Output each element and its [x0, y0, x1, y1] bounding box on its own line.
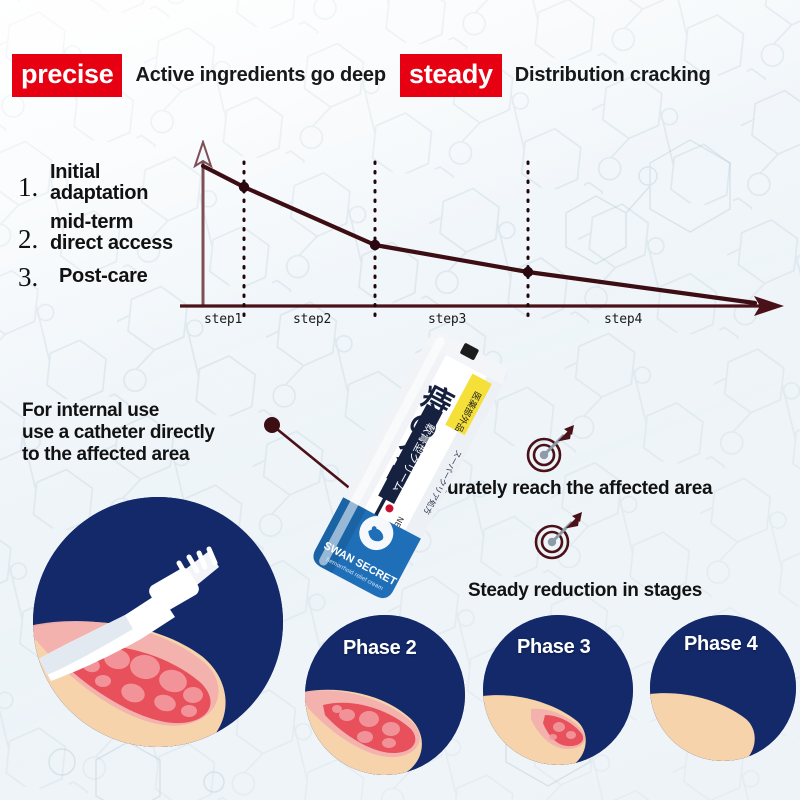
chart-droplines	[244, 162, 528, 316]
step-label-line2: adaptation	[50, 182, 148, 204]
step-number: 1.	[18, 173, 50, 201]
x-tick-step2: step2	[293, 312, 331, 327]
chart-data-points	[239, 182, 533, 277]
header-precise: precise Active ingredients go deep	[12, 54, 386, 97]
header-precise-text: Active ingredients go deep	[135, 64, 385, 87]
step-label-line1: mid-term	[50, 211, 133, 233]
callout-line-3: to the affected area	[22, 444, 215, 466]
list-item: 1. Initial adaptation	[18, 162, 208, 205]
phase-1-illustration	[33, 497, 283, 747]
badge-precise: precise	[12, 54, 122, 97]
step-label: mid-term direct access	[50, 212, 173, 255]
target-arrow-icon	[528, 512, 584, 564]
phase-4-label: Phase 4	[684, 633, 758, 656]
list-item: 3. Post-care	[18, 262, 208, 291]
steps-list: 1. Initial adaptation 2. mid-term direct…	[18, 160, 208, 298]
list-item: 2. mid-term direct access	[18, 212, 208, 255]
x-tick-step3: step3	[428, 312, 466, 327]
x-tick-step4: step4	[604, 312, 642, 327]
step-label: Post-care	[59, 266, 147, 287]
leader-dot	[264, 417, 280, 433]
decline-line-chart	[180, 140, 790, 340]
callout-line-2: use a catheter directly	[22, 422, 215, 444]
step-label: Initial adaptation	[50, 162, 148, 205]
phase-2-label: Phase 2	[343, 637, 417, 660]
chart-series-line	[203, 166, 755, 303]
product-tube: 医薬部外品 痔のクリーム 軟膏型クリーム スーパークリア処方 NET 20g S…	[296, 328, 516, 618]
catheter-callout: For internal use use a catheter directly…	[22, 400, 215, 466]
phase-3-label: Phase 3	[517, 636, 591, 659]
header-steady-text: Distribution cracking	[515, 64, 711, 87]
step-label-line2: direct access	[50, 232, 173, 254]
step-number: 2.	[18, 225, 50, 253]
step-label-line1: Initial	[50, 161, 100, 183]
x-tick-step1: step1	[204, 312, 242, 327]
header-steady: steady Distribution cracking	[400, 54, 711, 97]
infographic-poster: precise Active ingredients go deep stead…	[0, 0, 800, 800]
step-number: 3.	[18, 263, 50, 291]
badge-steady: steady	[400, 54, 502, 97]
target-arrow-icon	[520, 425, 576, 477]
callout-line-1: For internal use	[22, 400, 215, 422]
